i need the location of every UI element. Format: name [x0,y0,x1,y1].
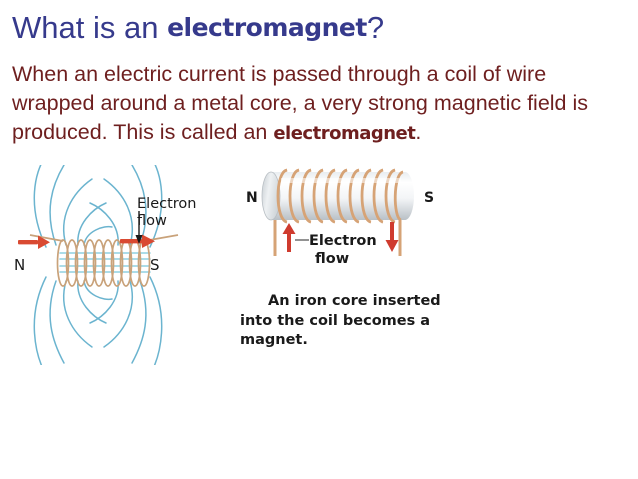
electron-flow-label-line2: flow [315,251,349,267]
electron-flow-label-line2: flow [137,213,167,229]
field-line [50,281,64,363]
title-keyword: electromagnet [167,13,367,42]
title-suffix: ? [367,10,384,45]
body-text-part2: . [415,120,421,144]
field-line [132,281,146,363]
electron-flow-arrow-up [283,223,296,252]
slide-canvas: What is an electromagnet? When an electr… [0,0,638,479]
field-line [34,277,46,365]
north-pole-label: N [246,190,258,206]
body-text-keyword: electromagnet [273,123,415,144]
core-highlight [281,178,401,183]
title-prefix: What is an [12,10,167,45]
page-title: What is an electromagnet? [12,8,632,50]
south-pole-label: S [424,190,434,206]
field-line [50,165,64,245]
magnetic-field-diagram: Electron flow N S [0,165,210,365]
north-pole-label: N [14,256,25,274]
electron-flow-arrow-down [386,222,399,252]
body-paragraph: When an electric current is passed throu… [12,60,630,148]
field-line [150,277,162,365]
field-lines-group [34,165,161,365]
electron-flow-label-line1: Electron [137,196,196,212]
field-line [34,165,46,247]
figure-caption: An iron core inserted into the coil beco… [240,292,445,351]
south-pole-label: S [150,256,160,274]
electron-flow-label-line1: Electron [309,233,377,249]
solenoid-core-diagram: N S Electron flow [235,160,450,270]
